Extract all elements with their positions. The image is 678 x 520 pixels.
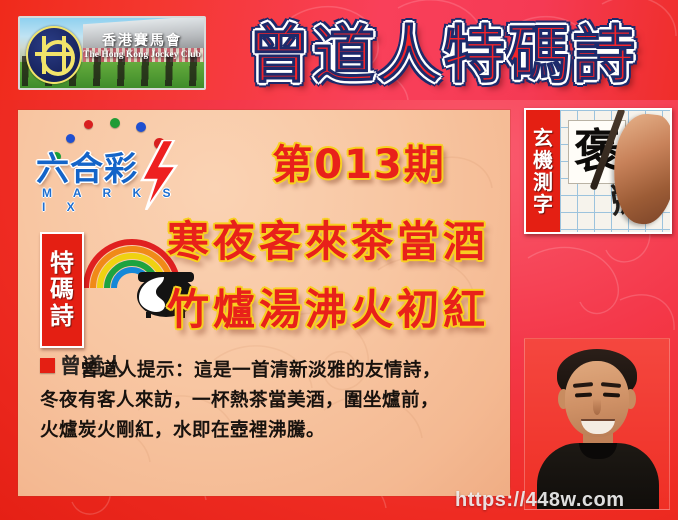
- portrait-eye-right: [603, 393, 620, 398]
- site-watermark: https://448w.com: [455, 489, 625, 512]
- issue-number-text: 第013期: [272, 142, 446, 188]
- main-content-panel: 六合彩 M A R K S I X: [18, 110, 510, 496]
- explanation-line-3: 火爐炭火剛紅，水即在壺裡沸騰。: [40, 416, 492, 446]
- page-title: 曾道人特碼詩: [212, 5, 674, 93]
- hkjc-logo-card: 香港賽馬會 The Hong Kong Jockey Club: [18, 16, 206, 90]
- poem-line-1-text: 寒夜客來茶當酒: [167, 217, 489, 266]
- explanation-line-2: 冬夜有客人來訪，一杯熱茶當美酒，圍坐爐前，: [40, 386, 492, 416]
- poem-line-2: 竹爐湯沸火初紅: [148, 276, 508, 337]
- issue-number: 第013期: [214, 132, 504, 190]
- xuanji-char-2: 機: [533, 150, 553, 171]
- mark-six-cn-text: 六合彩: [36, 152, 138, 185]
- author-portrait-photo: [524, 338, 670, 510]
- calligraphy-image: 褒 敚: [560, 110, 670, 232]
- xuanji-cezi-panel[interactable]: 玄 機 測 字 褒 敚: [524, 108, 672, 234]
- xuanji-char-4: 字: [533, 194, 553, 215]
- explanation-block: 曾道人提示：這是一首清新淡雅的友情詩， 冬夜有客人來訪，一杯熱茶當美酒，圍坐爐前…: [40, 356, 492, 446]
- badge-char-2: 碼: [50, 277, 74, 302]
- portrait-nose: [593, 399, 601, 415]
- mark-six-logo: 六合彩 M A R K S I X: [32, 118, 192, 210]
- badge-char-3: 詩: [50, 304, 74, 329]
- jockey-club-emblem-icon: [26, 26, 82, 84]
- page-title-text: 曾道人特碼詩: [248, 4, 638, 94]
- xuanji-label: 玄 機 測 字: [526, 110, 560, 232]
- hkjc-name-en: The Hong Kong Jockey Club: [82, 50, 202, 61]
- xuanji-char-1: 玄: [533, 128, 553, 149]
- te-ma-shi-badge: 特 碼 詩: [40, 232, 84, 348]
- badge-char-1: 特: [50, 251, 74, 276]
- poem-line-1: 寒夜客來茶當酒: [148, 208, 508, 269]
- poem-line-2-text: 竹爐湯沸火初紅: [167, 285, 489, 334]
- explanation-line-1: 曾道人提示：這是一首清新淡雅的友情詩，: [40, 356, 492, 386]
- page-header: 香港賽馬會 The Hong Kong Jockey Club 曾道人特碼詩: [0, 0, 678, 100]
- poster-root: 香港賽馬會 The Hong Kong Jockey Club 曾道人特碼詩: [0, 0, 678, 520]
- hkjc-name-cn: 香港賽馬會: [82, 34, 202, 48]
- xuanji-char-3: 測: [533, 172, 553, 193]
- hkjc-logo-text: 香港賽馬會 The Hong Kong Jockey Club: [82, 34, 202, 61]
